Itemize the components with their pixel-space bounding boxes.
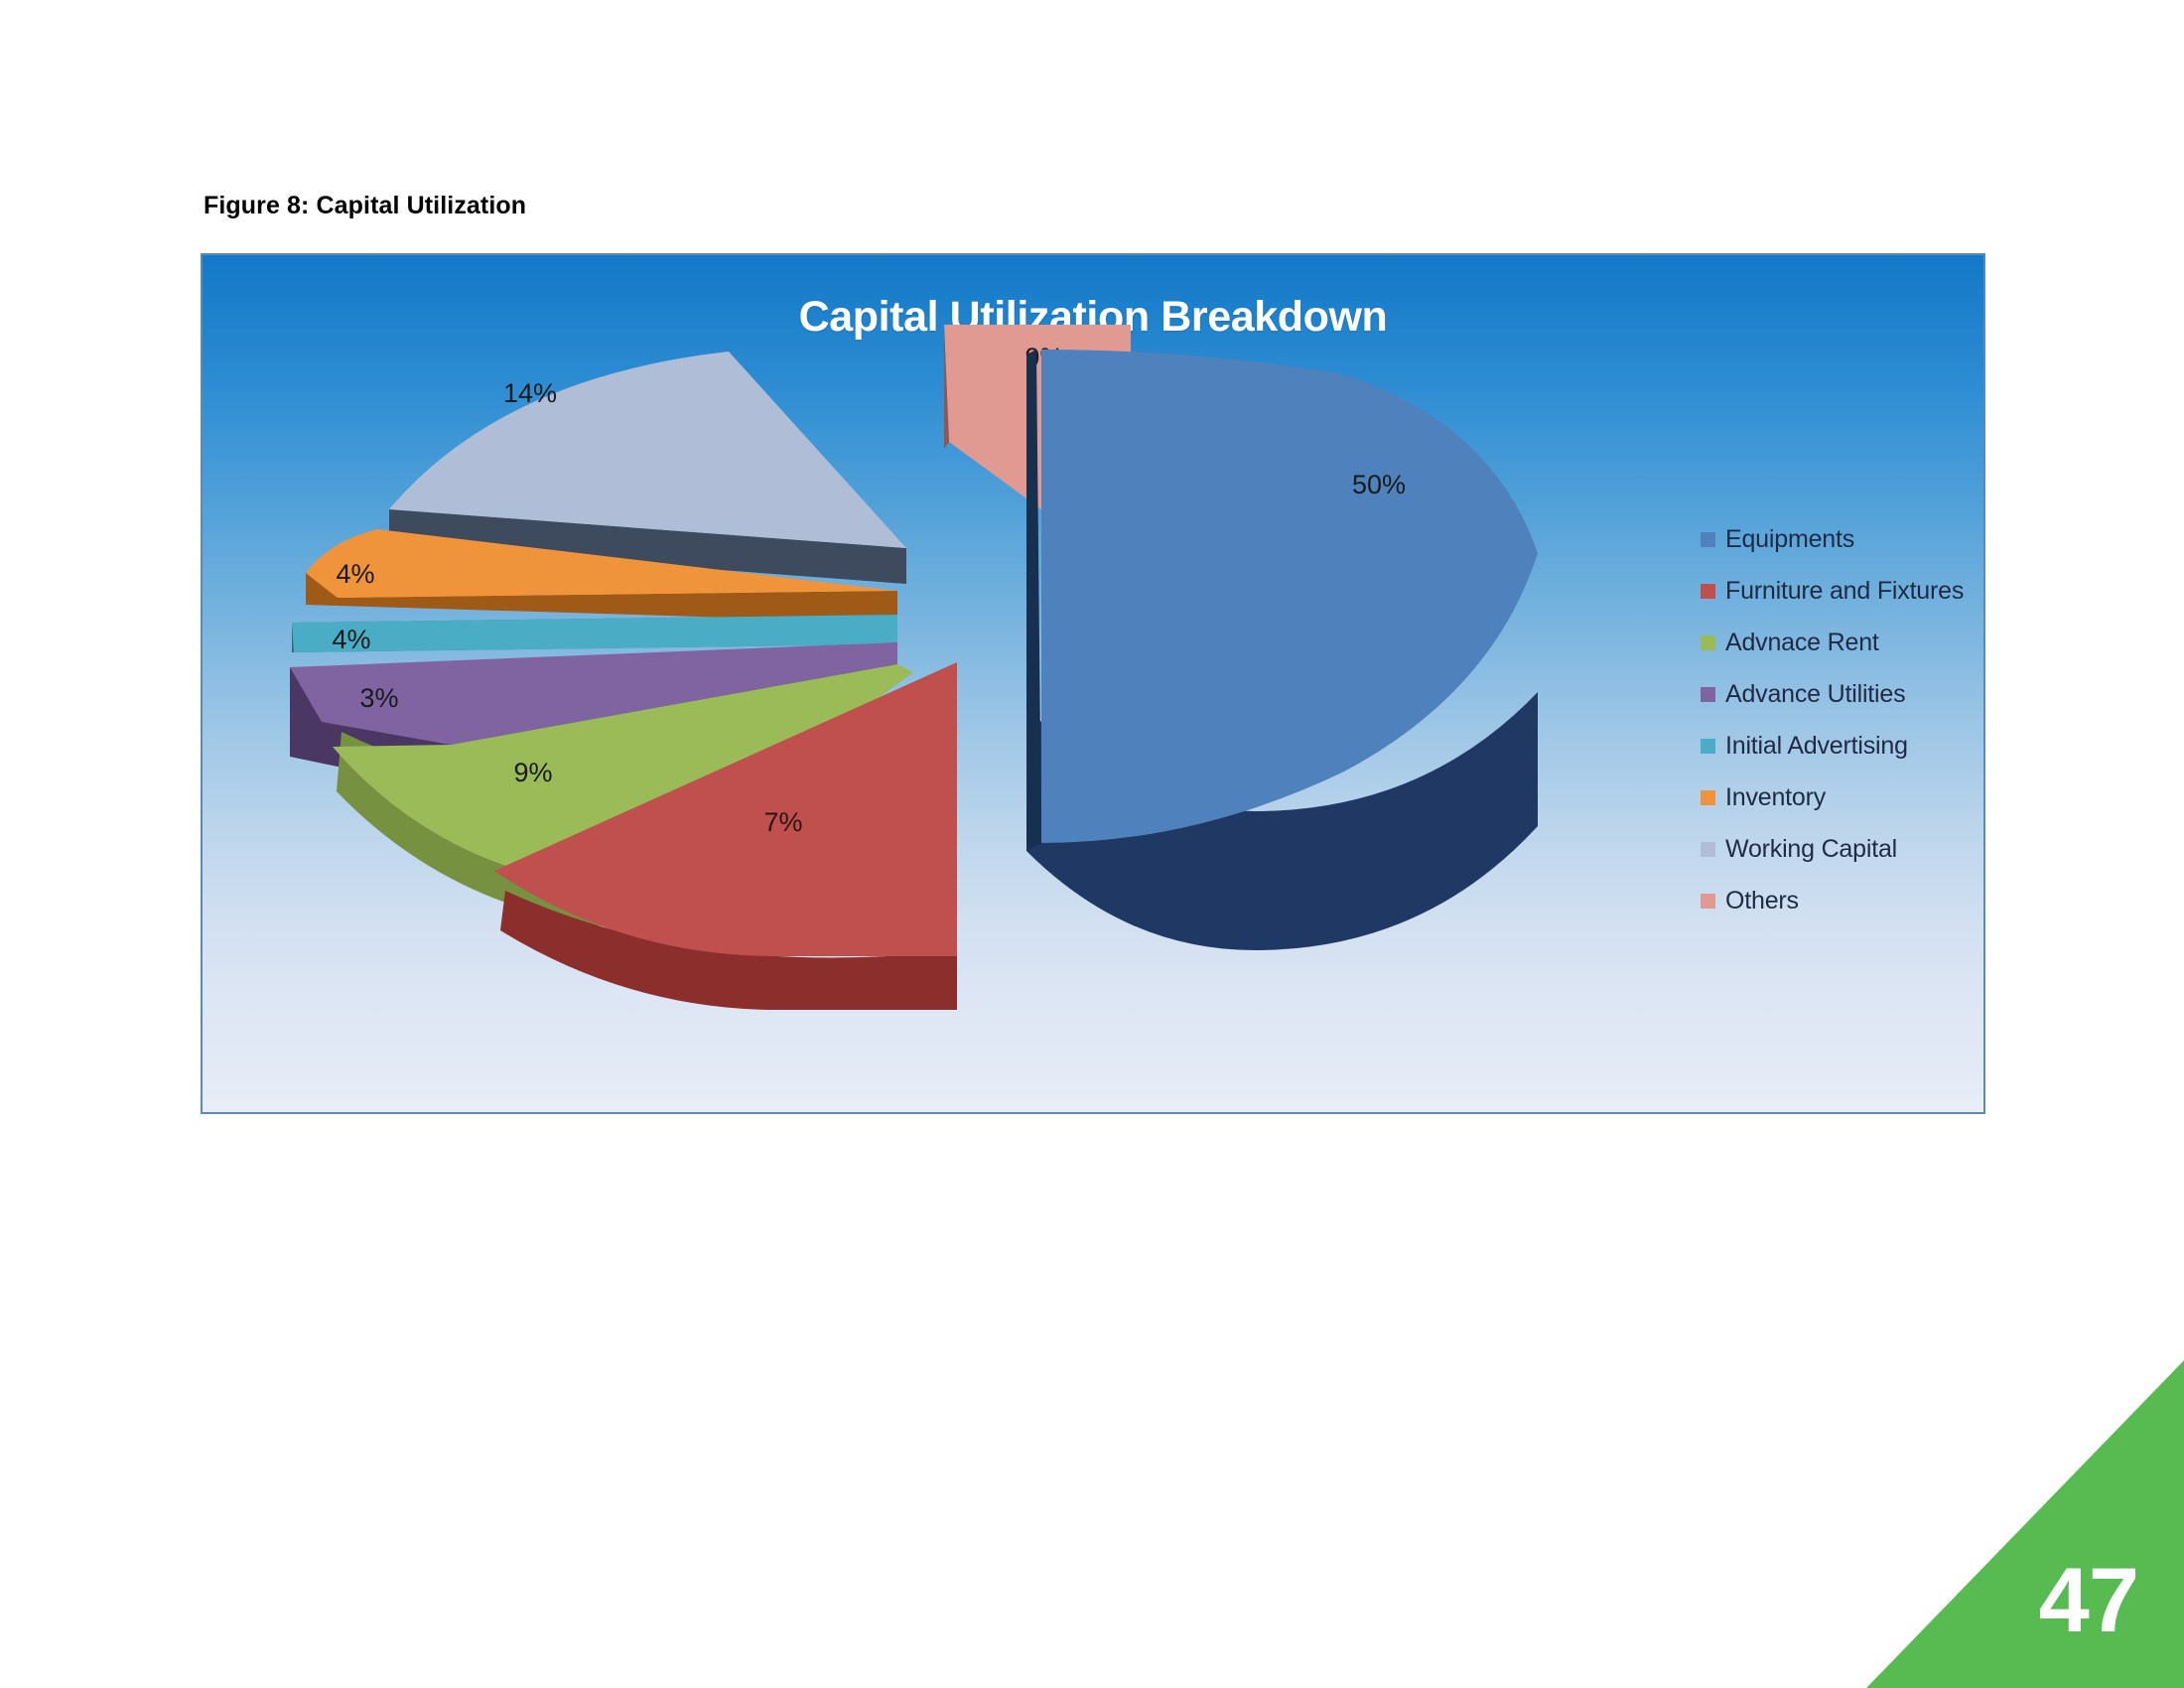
legend-item-equipments[interactable]: Equipments [1701,521,1979,557]
legend-item-advance-utilities[interactable]: Advance Utilities [1701,676,1979,712]
legend-label-others: Others [1725,887,1799,915]
legend-label-furniture-and-fixtures: Furniture and Fixtures [1725,577,1964,606]
pie-label-advance-rent: 9% [513,758,552,787]
pie-label-working-capital: 14% [503,378,557,408]
legend-item-initial-advertising[interactable]: Initial Advertising [1701,728,1979,764]
legend-swatch-working-capital [1701,842,1715,857]
legend-swatch-advance-utilities [1701,687,1715,702]
legend-swatch-advnace-rent [1701,635,1715,650]
pie-chart-svg: 9% 14% 4% 4% [203,255,1692,1114]
legend-item-furniture-and-fixtures[interactable]: Furniture and Fixtures [1701,573,1979,609]
legend-label-inventory: Inventory [1725,783,1826,812]
pie-label-equipments: 50% [1352,470,1406,499]
legend-label-initial-advertising: Initial Advertising [1725,732,1908,761]
legend-label-working-capital: Working Capital [1725,835,1897,864]
figure-caption: Figure 8: Capital Utilization [204,192,526,220]
pie-label-initial-advertising: 4% [332,625,370,654]
chart-container: Capital Utilization Breakdown 9% 14% [201,253,1985,1114]
legend-item-inventory[interactable]: Inventory [1701,779,1979,815]
pie-label-furniture: 7% [763,807,802,837]
legend-item-others[interactable]: Others [1701,883,1979,918]
legend-label-equipments: Equipments [1725,525,1854,554]
legend-swatch-equipments [1701,532,1715,547]
legend-label-advnace-rent: Advnace Rent [1725,629,1879,657]
legend-swatch-inventory [1701,790,1715,805]
page-number: 47 [2039,1555,2138,1646]
pie-label-advance-utilities: 3% [359,683,398,713]
legend-swatch-others [1701,894,1715,909]
pie-label-inventory: 4% [336,559,374,589]
chart-legend: Equipments Furniture and Fixtures Advnac… [1701,521,1979,934]
legend-swatch-initial-advertising [1701,739,1715,754]
legend-item-working-capital[interactable]: Working Capital [1701,831,1979,867]
legend-swatch-furniture-and-fixtures [1701,584,1715,599]
pie-chart: 9% 14% 4% 4% [203,255,1692,1114]
legend-label-advance-utilities: Advance Utilities [1725,680,1905,709]
legend-item-advnace-rent[interactable]: Advnace Rent [1701,625,1979,660]
pie-slice-equipments[interactable]: 50% [1026,350,1538,950]
